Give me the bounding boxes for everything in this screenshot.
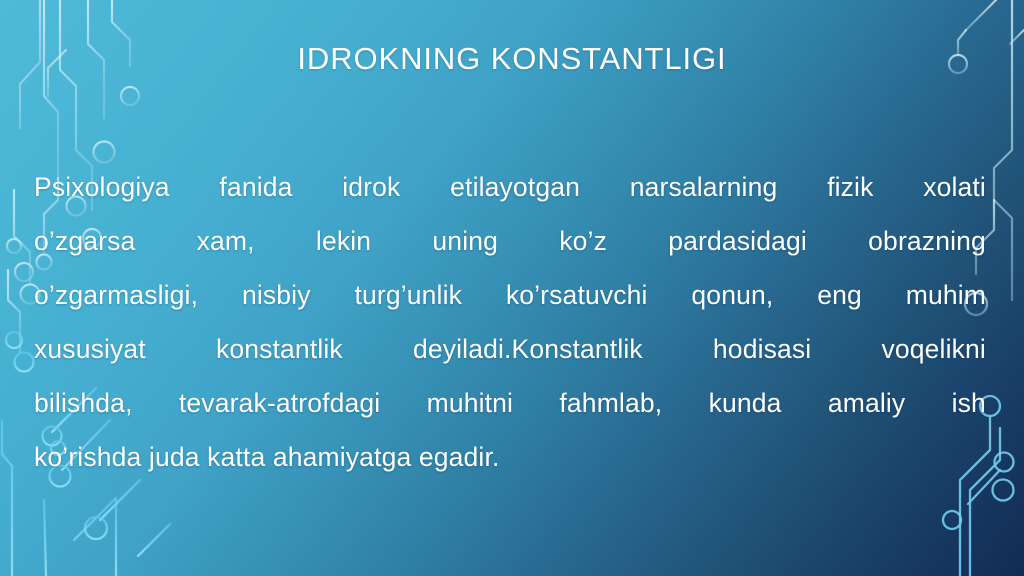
circuit-node-icon [993, 480, 1014, 501]
circuit-node-icon [15, 263, 33, 281]
circuit-node-icon [995, 453, 1014, 472]
circuit-node-icon [6, 332, 22, 348]
body-line: Psixologiyafanidaidroketilayotgannarsala… [34, 160, 986, 214]
circuit-node-icon [121, 87, 139, 105]
body-line: ko’rishda juda katta ahamiyatga egadir. [34, 430, 986, 484]
presentation-slide: IDROKNING KONSTANTLIGI Psixologiyafanida… [0, 0, 1024, 576]
slide-body-text: Psixologiyafanidaidroketilayotgannarsala… [34, 160, 986, 484]
circuit-node-icon [85, 517, 107, 539]
circuit-node-icon [15, 353, 34, 372]
body-line: xususiyatkonstantlikdeyiladi.Konstantlik… [34, 322, 986, 376]
circuit-node-icon [7, 239, 21, 253]
circuit-node-icon [943, 511, 961, 529]
body-line: o’zgarsaxam,lekinuningko’zpardasidagiobr… [34, 214, 986, 268]
body-line: bilishda,tevarak-atrofdagimuhitnifahmlab… [34, 376, 986, 430]
body-line: o’zgarmasligi,nisbiyturg’unlikko’rsatuvc… [34, 268, 986, 322]
slide-title: IDROKNING KONSTANTLIGI [0, 39, 1024, 79]
